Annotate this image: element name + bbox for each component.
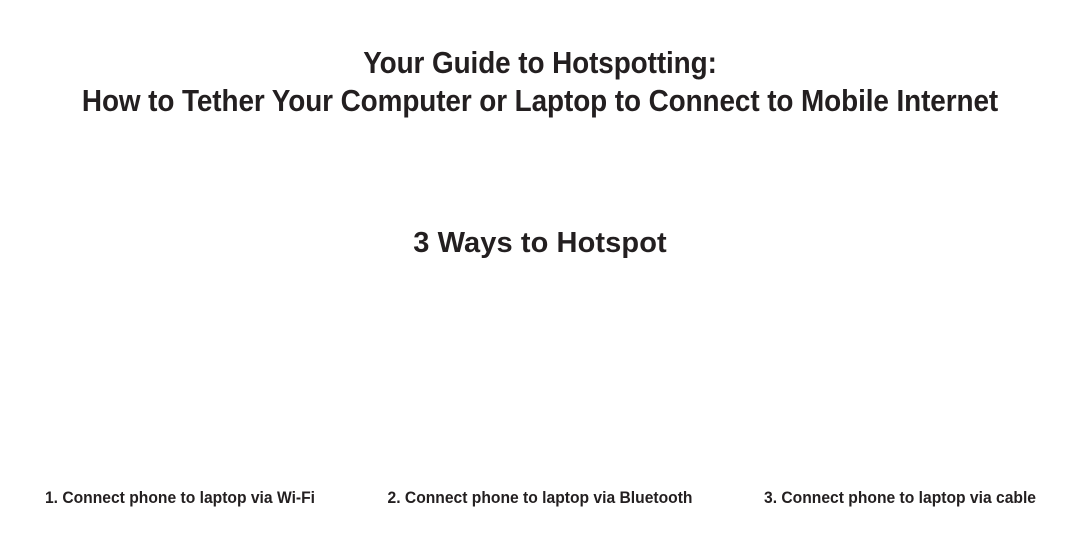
method-caption-row: 1. Connect phone to laptop via Wi-Fi 2. … xyxy=(0,486,1080,516)
page-title: Your Guide to Hotspotting: How to Tether… xyxy=(0,44,1080,120)
method-figure-bluetooth xyxy=(360,286,720,476)
method-caption-wifi: 1. Connect phone to laptop via Wi-Fi xyxy=(14,486,345,516)
method-figure-wifi xyxy=(0,286,360,476)
method-caption-cable: 3. Connect phone to laptop via cable xyxy=(734,486,1065,516)
page-title-line-1: Your Guide to Hotspotting: xyxy=(54,44,1026,82)
method-caption-bluetooth: 2. Connect phone to laptop via Bluetooth xyxy=(374,486,705,516)
section-heading: 3 Ways to Hotspot xyxy=(0,224,1080,262)
method-figure-strip xyxy=(0,286,1080,476)
method-figure-cable xyxy=(720,286,1080,476)
article-page: Your Guide to Hotspotting: How to Tether… xyxy=(0,0,1080,552)
page-title-line-2: How to Tether Your Computer or Laptop to… xyxy=(54,82,1026,120)
